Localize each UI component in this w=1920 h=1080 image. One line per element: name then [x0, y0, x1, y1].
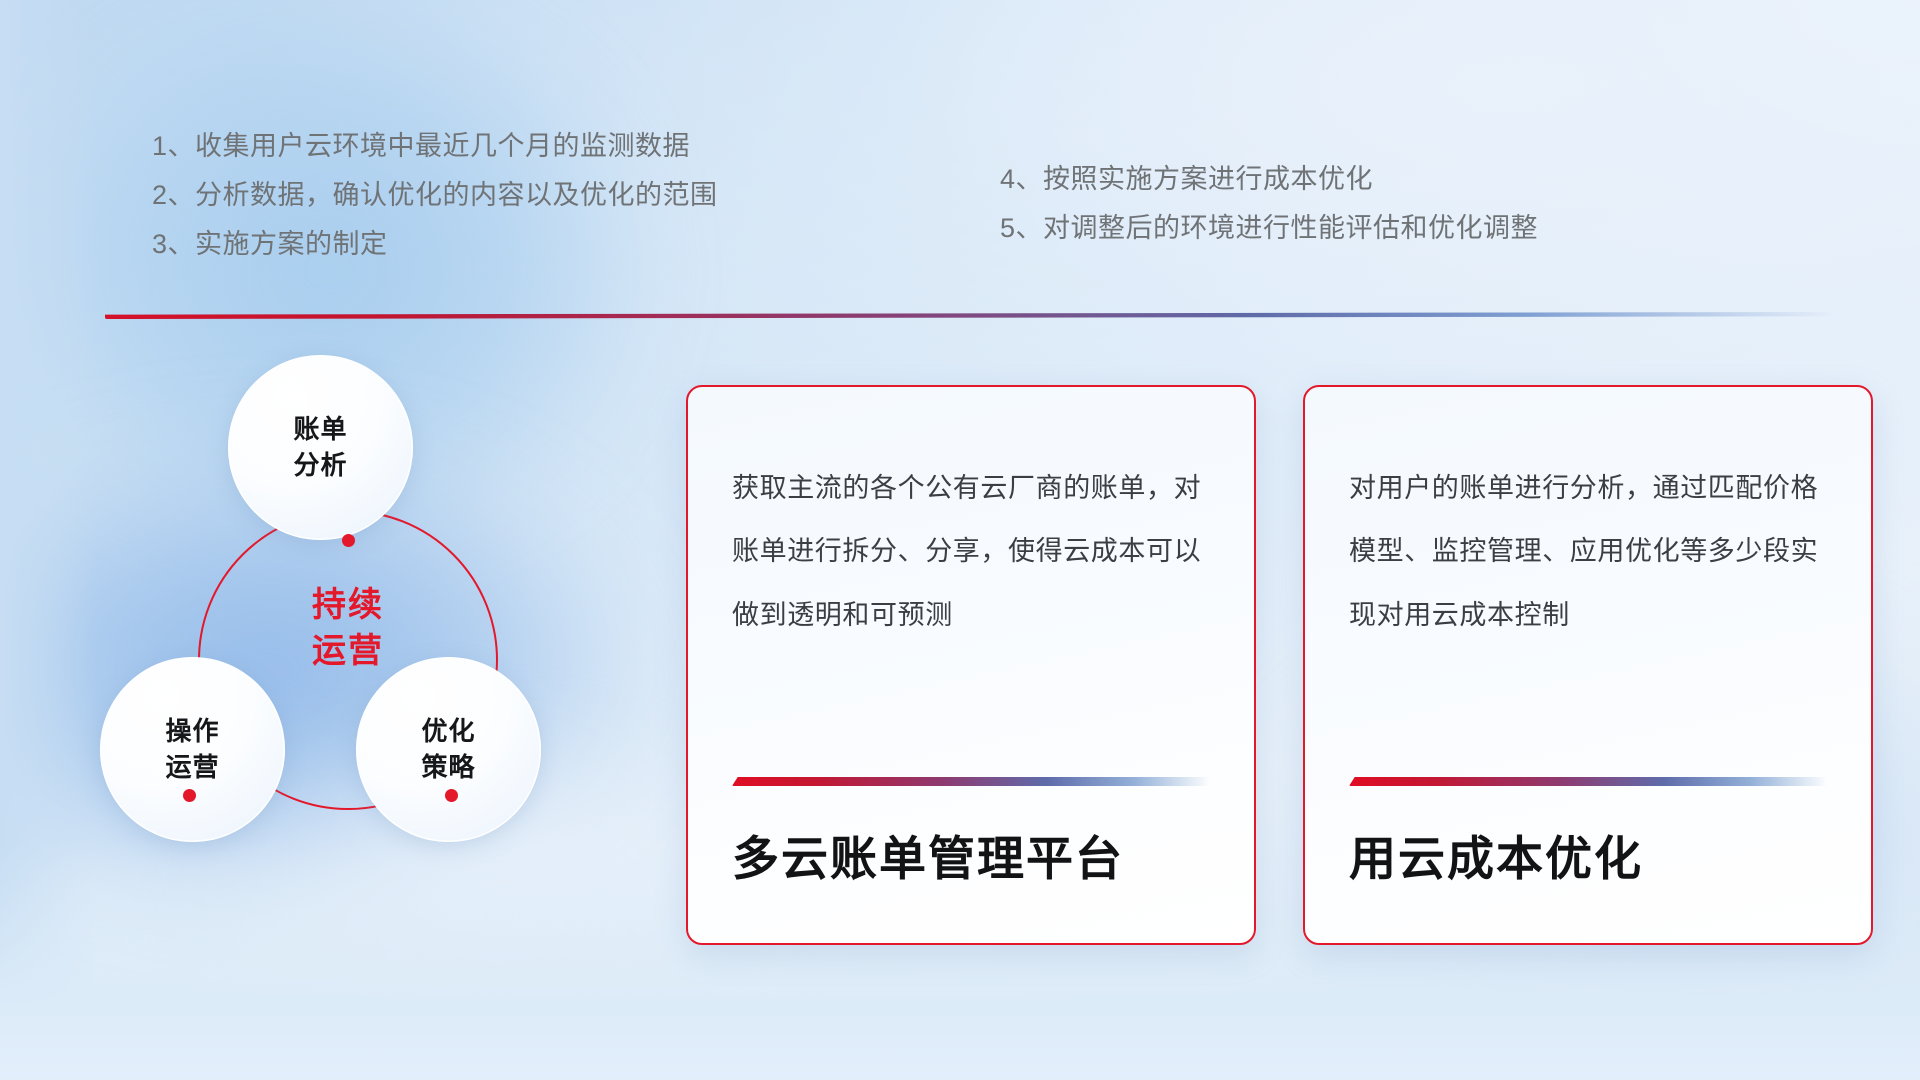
process-step-2: 2、分析数据，确认优化的内容以及优化的范围 — [152, 171, 718, 220]
diagram-node-dot-top — [342, 534, 355, 547]
continuous-operation-diagram: 持续 运营 账单 分析 操作 运营 优化 策略 — [100, 355, 620, 915]
diagram-node-dot-bottom-right — [445, 789, 458, 802]
feature-card-cost-optimization-divider — [1349, 777, 1827, 786]
slide-canvas: 1、收集用户云环境中最近几个月的监测数据 2、分析数据，确认优化的内容以及优化的… — [0, 0, 1920, 1080]
process-steps-right-column: 4、按照实施方案进行成本优化 5、对调整后的环境进行性能评估和优化调整 — [1000, 155, 1538, 253]
feature-card-multicloud-billing-body: 获取主流的各个公有云厂商的账单，对账单进行拆分、分享，使得云成本可以做到透明和可… — [732, 457, 1210, 647]
diagram-bubble-optimization-strategy[interactable]: 优化 策略 — [356, 657, 541, 842]
diagram-center-label: 持续 运营 — [260, 583, 436, 675]
process-step-1: 1、收集用户云环境中最近几个月的监测数据 — [152, 122, 718, 171]
diagram-bubble-bill-analysis-line2: 分析 — [293, 448, 347, 484]
diagram-bubble-operations[interactable]: 操作 运营 — [100, 657, 285, 842]
diagram-center-label-line1: 持续 — [260, 583, 436, 629]
process-steps-left-column: 1、收集用户云环境中最近几个月的监测数据 2、分析数据，确认优化的内容以及优化的… — [152, 122, 718, 269]
diagram-bubble-optimization-strategy-line1: 优化 — [421, 714, 475, 750]
diagram-bubble-bill-analysis[interactable]: 账单 分析 — [228, 355, 413, 540]
feature-card-multicloud-billing-title: 多云账单管理平台 — [732, 820, 1210, 889]
feature-card-cost-optimization-title: 用云成本优化 — [1349, 820, 1827, 889]
diagram-bubble-bill-analysis-line1: 账单 — [293, 412, 347, 448]
process-step-3: 3、实施方案的制定 — [152, 220, 718, 269]
feature-card-cost-optimization[interactable]: 对用户的账单进行分析，通过匹配价格模型、监控管理、应用优化等多少段实现对用云成本… — [1303, 385, 1873, 945]
process-step-4: 4、按照实施方案进行成本优化 — [1000, 155, 1538, 204]
process-step-5: 5、对调整后的环境进行性能评估和优化调整 — [1000, 204, 1538, 253]
diagram-bubble-operations-line1: 操作 — [165, 714, 219, 750]
feature-card-multicloud-billing[interactable]: 获取主流的各个公有云厂商的账单，对账单进行拆分、分享，使得云成本可以做到透明和可… — [686, 385, 1256, 945]
diagram-node-dot-bottom-left — [183, 789, 196, 802]
feature-card-multicloud-billing-divider — [732, 777, 1210, 786]
diagram-bubble-optimization-strategy-line2: 策略 — [421, 750, 475, 786]
feature-card-cost-optimization-body: 对用户的账单进行分析，通过匹配价格模型、监控管理、应用优化等多少段实现对用云成本… — [1349, 457, 1827, 647]
diagram-bubble-operations-line2: 运营 — [165, 750, 219, 786]
